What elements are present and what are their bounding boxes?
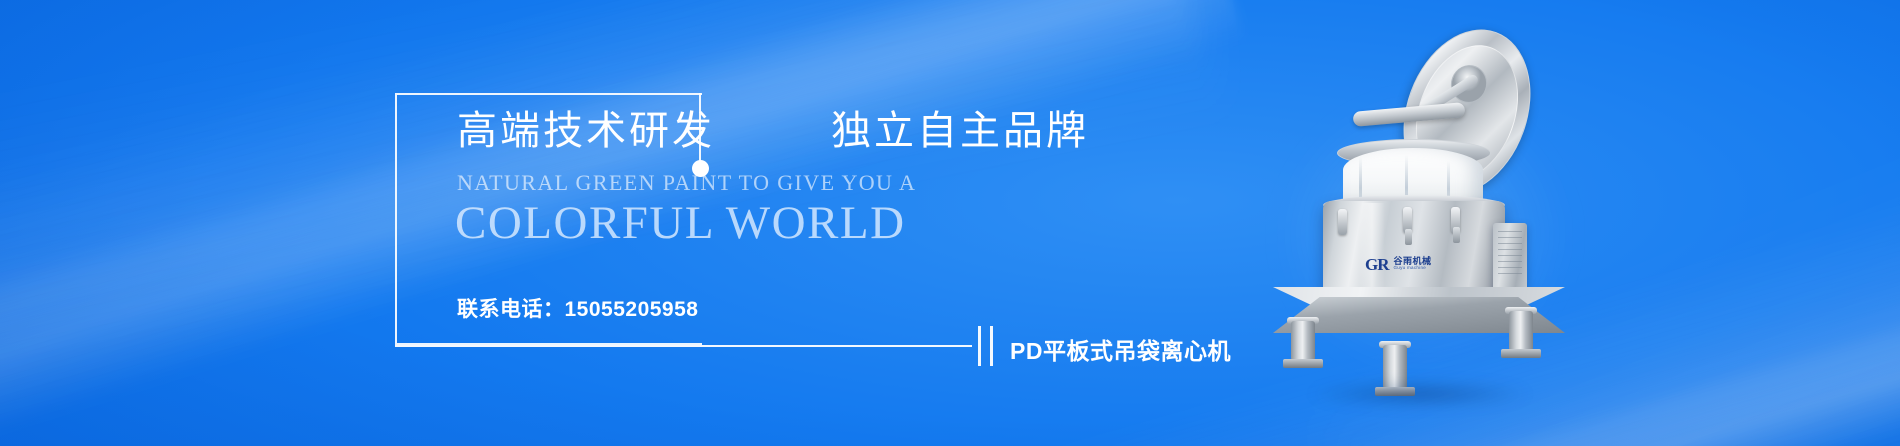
product-label: PD平板式吊袋离心机 <box>1010 332 1231 366</box>
headline-right: 独立自主品牌 <box>831 111 1089 151</box>
divider-bar-1 <box>978 326 981 366</box>
machine-foot <box>1501 349 1541 358</box>
machine-brand-logo: GR 谷雨机械 Guyu machine <box>1365 253 1451 275</box>
subtitle-line-2: COLORFUL WORLD <box>455 196 906 250</box>
subtitle-line-1: NATURAL GREEN PAINT TO GIVE YOU A <box>457 170 916 196</box>
horizontal-rule <box>395 345 972 347</box>
machine-ground-shadow <box>1265 377 1575 411</box>
brand-name-en: Guyu machine <box>1394 266 1432 271</box>
machine-leg <box>1509 311 1533 351</box>
machine-foot <box>1283 359 1323 368</box>
brand-mark: GR <box>1365 256 1389 273</box>
brand-text: 谷雨机械 Guyu machine <box>1394 257 1432 271</box>
centrifuge-machine-image: GR 谷雨机械 Guyu machine <box>1255 15 1585 435</box>
headline-left: 高端技术研发 <box>457 111 715 151</box>
machine-clamp-lower <box>1405 229 1412 245</box>
machine-leg <box>1291 321 1315 361</box>
machine-clamp-lower <box>1453 227 1460 243</box>
machine-control-vent <box>1498 231 1522 275</box>
contact-phone: 联系电话：15055205958 <box>457 293 698 323</box>
divider-bar-2 <box>990 326 993 366</box>
promo-banner: 高端技术研发 独立自主品牌 NATURAL GREEN PAINT TO GIV… <box>0 0 1900 446</box>
headline: 高端技术研发 独立自主品牌 <box>457 111 1089 151</box>
machine-clamp <box>1338 209 1347 235</box>
